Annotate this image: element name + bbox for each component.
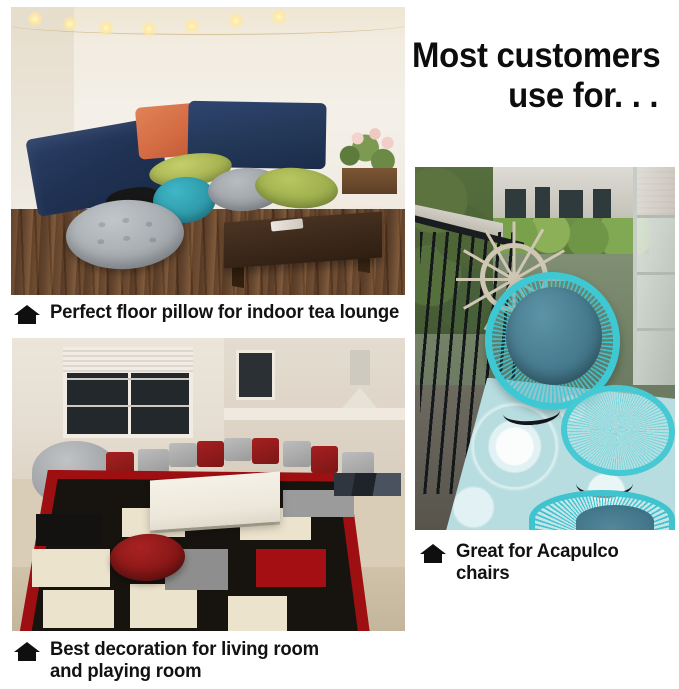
- caption-text: Perfect floor pillow for indoor tea loun…: [50, 302, 399, 324]
- house-icon: [13, 641, 41, 668]
- photo-acapulco-balcony: [415, 167, 675, 530]
- toys-on-floor: [334, 473, 401, 496]
- caption-playing-room: Best decoration for living room and play…: [13, 639, 333, 682]
- house-icon: [419, 543, 447, 570]
- caption-text: Great for Acapulco chairs: [456, 541, 619, 584]
- glass-door: [633, 167, 675, 385]
- photo-playing-room: [12, 338, 405, 631]
- rug-square-cream-1: [32, 549, 111, 587]
- page-title: Most customers use for. . .: [412, 36, 658, 116]
- caption-text: Best decoration for living room and play…: [50, 639, 319, 682]
- rug-square-black-1: [36, 514, 103, 546]
- wall-pillow-red-4: [311, 446, 339, 472]
- wall-ledge: [224, 408, 405, 420]
- wall-pillow-red-2: [197, 441, 225, 467]
- photo-tea-lounge: [11, 7, 405, 295]
- rug-square-cream-4: [130, 584, 197, 628]
- wall-pillow-gray-1: [138, 449, 169, 472]
- string-lights: [11, 7, 405, 53]
- rug-square-red-1: [256, 549, 327, 587]
- caption-acapulco: Great for Acapulco chairs: [419, 541, 627, 584]
- white-low-table: [150, 471, 280, 530]
- rug-square-cream-2: [43, 590, 114, 628]
- headline-line-1: Most customers: [412, 36, 658, 76]
- caption-tea-lounge: Perfect floor pillow for indoor tea loun…: [13, 302, 418, 331]
- rug-square-cream-6: [228, 596, 287, 631]
- window-blind: [63, 347, 193, 373]
- wall-pillow-red-3: [252, 438, 280, 464]
- headline-line-2: use for. . .: [412, 76, 658, 116]
- window-small: [236, 350, 275, 400]
- wooden-crate: [342, 168, 397, 194]
- wall-pillow-gray-2: [169, 443, 197, 466]
- wall-pillow-gray-4: [283, 441, 311, 467]
- infographic-stage: Most customers use for. . .: [0, 0, 679, 689]
- wall-pillow-gray-3: [224, 438, 252, 461]
- house-icon: [13, 304, 41, 331]
